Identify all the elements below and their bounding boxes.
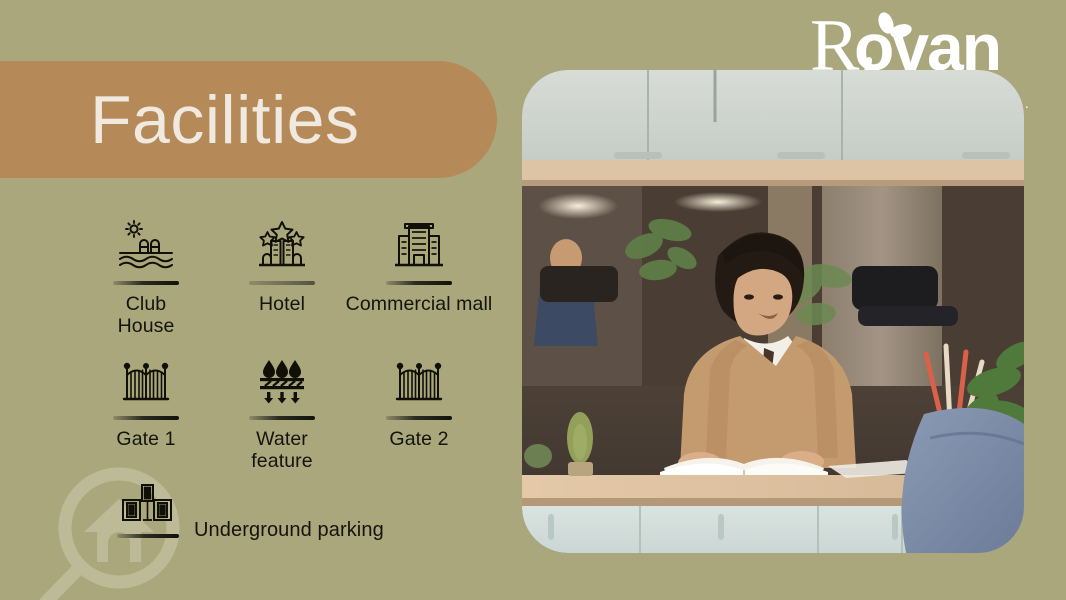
slide-canvas: Facilities R ovan CITY SHEIKH ZAYED.	[0, 0, 1066, 600]
facility-label: Gate 1	[116, 429, 175, 451]
gate-icon	[117, 353, 175, 409]
facility-divider	[386, 416, 452, 420]
hotel-stars-icon	[253, 218, 311, 274]
facility-row-2: Gate 1	[0, 353, 520, 473]
title-pill: Facilities	[0, 61, 497, 178]
facility-label: Gate 2	[389, 429, 448, 451]
facility-label: Club House	[118, 294, 175, 338]
parking-cars-icon	[119, 484, 177, 528]
page-title: Facilities	[90, 86, 360, 154]
facility-item-underground-parking[interactable]: Underground parking	[112, 484, 384, 538]
facility-item-gate-1[interactable]: Gate 1	[75, 353, 217, 473]
facility-label: Commercial mall	[346, 294, 493, 316]
commercial-building-icon	[390, 218, 448, 274]
facility-label: Water feature	[251, 429, 312, 473]
facility-divider	[249, 416, 315, 420]
water-feature-icon	[253, 353, 311, 409]
facility-row-1: Club House	[0, 218, 520, 353]
facility-divider	[386, 281, 452, 285]
facilities-grid: Club House	[0, 218, 520, 473]
gate-icon	[390, 353, 448, 409]
facility-divider	[113, 281, 179, 285]
swimming-pool-icon	[117, 218, 175, 274]
facility-item-gate-2[interactable]: Gate 2	[348, 353, 490, 473]
facility-label: Underground parking	[194, 519, 384, 542]
facility-item-water-feature[interactable]: Water feature	[211, 353, 353, 473]
reception-photo	[522, 70, 1024, 553]
facility-label: Hotel	[259, 294, 305, 316]
facility-item-hotel[interactable]: Hotel	[211, 218, 353, 353]
facility-divider	[113, 416, 179, 420]
facility-divider	[117, 534, 179, 538]
facility-item-commercial-mall[interactable]: Commercial mall	[348, 218, 490, 353]
facility-item-club-house[interactable]: Club House	[75, 218, 217, 353]
parking-icon-group	[112, 484, 184, 538]
facility-divider	[249, 281, 315, 285]
